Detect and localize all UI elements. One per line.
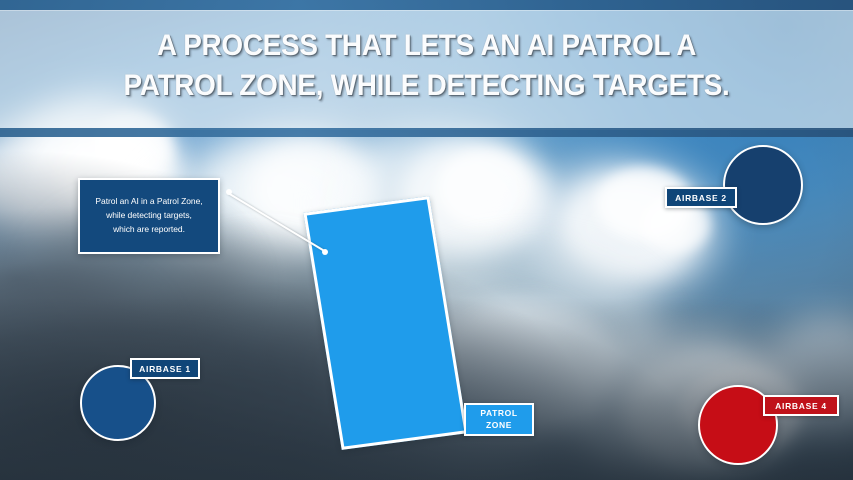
airbase-2-label[interactable]: AIRBASE 2: [665, 187, 737, 208]
airbase-1-label-text: AIRBASE 1: [139, 364, 191, 374]
leader-endpoint-callout: [226, 189, 232, 195]
airbase-2-label-text: AIRBASE 2: [675, 193, 727, 203]
description-callout-text: Patrol an AI in a Patrol Zone, while det…: [90, 195, 207, 236]
leader-endpoint-zone: [322, 249, 328, 255]
patrol-zone-label[interactable]: PATROL ZONE: [464, 403, 534, 436]
page-title: A PROCESS THAT LETS AN AI PATROL A PATRO…: [30, 26, 823, 106]
airbase-4-label[interactable]: AIRBASE 4: [763, 395, 839, 416]
header-accent-strip-bottom: [0, 128, 853, 137]
slide-canvas: A PROCESS THAT LETS AN AI PATROL A PATRO…: [0, 0, 853, 480]
description-callout: Patrol an AI in a Patrol Zone, while det…: [78, 178, 220, 254]
header-accent-strip-top: [0, 0, 853, 10]
airbase-4-label-text: AIRBASE 4: [775, 401, 827, 411]
airbase-1-label[interactable]: AIRBASE 1: [130, 358, 200, 379]
patrol-zone-label-text: PATROL ZONE: [480, 408, 517, 431]
airbase-2-marker[interactable]: [723, 145, 803, 225]
